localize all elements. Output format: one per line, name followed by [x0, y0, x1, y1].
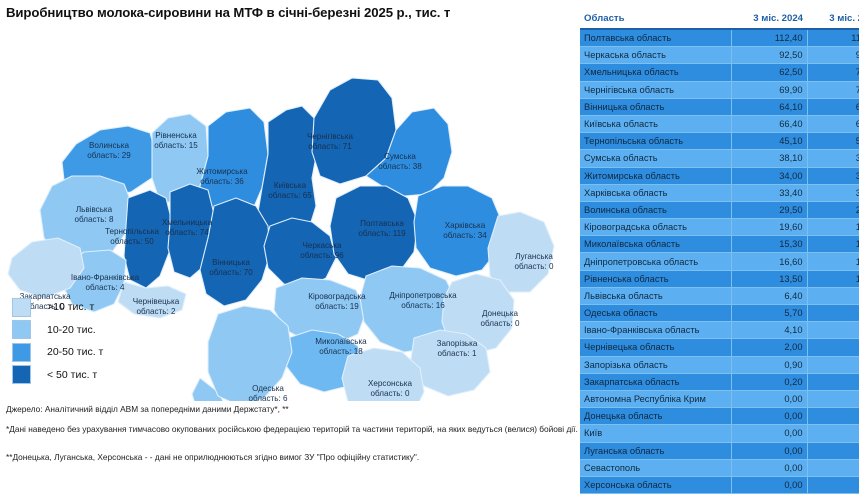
map-region-label: Львівськаобласть: 8	[75, 205, 114, 224]
cell-value-2025: 14,50	[807, 270, 859, 287]
cell-region: Хмельницька область	[580, 64, 731, 81]
cell-region: Київська область	[580, 115, 731, 132]
cell-value-2025: 119,00	[807, 29, 859, 47]
cell-value-2025: 18,10	[807, 236, 859, 253]
cell-region: Одеська область	[580, 305, 731, 322]
cell-region: Волинська область	[580, 201, 731, 218]
cell-value-2024: 0,20	[731, 373, 807, 390]
cell-region: Кіровоградська область	[580, 219, 731, 236]
table-row: Донецька область0,000,00	[580, 408, 859, 425]
map-region-label: Тернопільськаобласть: 50	[105, 227, 160, 246]
cell-value-2025: 69,50	[807, 98, 859, 115]
cell-value-2025: 0,00	[807, 476, 859, 493]
cell-value-2025: 37,50	[807, 150, 859, 167]
cell-value-2024: 16,60	[731, 253, 807, 270]
map-region-label: Чернігівськаобласть: 71	[307, 132, 354, 151]
map-region-label: Вінницькаобласть: 70	[209, 258, 253, 277]
cell-value-2025: 4,10	[807, 322, 859, 339]
cell-value-2024: 0,00	[731, 408, 807, 425]
cell-region: Полтавська область	[580, 29, 731, 47]
map-region-label: Херсонськаобласть: 0	[368, 379, 412, 398]
table-body: Полтавська область112,40119,00Черкаська …	[580, 29, 859, 494]
cell-region: Донецька область	[580, 408, 731, 425]
table-row: Херсонська область0,000,00	[580, 476, 859, 493]
cell-value-2024: 64,10	[731, 98, 807, 115]
cell-region: Вінницька область	[580, 98, 731, 115]
cell-value-2025: 0,00	[807, 459, 859, 476]
cell-region: Закарпатська область	[580, 373, 731, 390]
table-row: Одеська область5,705,60	[580, 305, 859, 322]
table-row: Чернівецька область2,002,30	[580, 339, 859, 356]
map-region-label: Донецькаобласть: 0	[481, 309, 520, 328]
footnote-undisclosed-regions: **Донецька, Луганська, Херсонська - - да…	[6, 452, 578, 462]
table-row: Івано-Франківська область4,104,10	[580, 322, 859, 339]
table-row: Хмельницька область62,5074,40	[580, 64, 859, 81]
table-row: Київська область66,4065,40	[580, 115, 859, 132]
cell-value-2024: 0,00	[731, 425, 807, 442]
map-region-label: Хмельницькаобласть: 74	[162, 218, 213, 237]
cell-value-2025: 5,60	[807, 305, 859, 322]
map-region-label: Рівненськаобласть: 15	[154, 131, 198, 150]
cell-value-2024: 45,10	[731, 133, 807, 150]
cell-region: Херсонська область	[580, 476, 731, 493]
table-row: Харківська область33,4034,00	[580, 184, 859, 201]
table-row: Київ0,000,00	[580, 425, 859, 442]
map-region-label: Миколаївськаобласть: 18	[315, 337, 367, 356]
cell-value-2025: 7,90	[807, 287, 859, 304]
cell-value-2024: 33,40	[731, 184, 807, 201]
map-region-label: Черкаськаобласть: 96	[300, 241, 344, 260]
cell-value-2024: 0,00	[731, 476, 807, 493]
table-row: Кіровоградська область19,6019,20	[580, 219, 859, 236]
cell-region: Харківська область	[580, 184, 731, 201]
table-row: Дніпропетровська область16,6015,80	[580, 253, 859, 270]
legend-item: < 50 тис. т	[12, 364, 192, 387]
legend-item: >10 тис. т	[12, 296, 192, 319]
map-region-label: Сумськаобласть: 38	[378, 152, 422, 171]
table-row: Чернігівська область69,9070,70	[580, 81, 859, 98]
table-row: Миколаївська область15,3018,10	[580, 236, 859, 253]
cell-region: Запорізька область	[580, 356, 731, 373]
map-panel: Виробництво молока-сировини на МТФ в січ…	[0, 0, 580, 473]
cell-value-2024: 15,30	[731, 236, 807, 253]
cell-value-2025: 0,90	[807, 356, 859, 373]
cell-region: Черкаська область	[580, 47, 731, 64]
map-legend: >10 тис. т 10-20 тис. 20-50 тис. т < 50 …	[12, 296, 192, 386]
cell-value-2025: 0,00	[807, 390, 859, 407]
cell-value-2024: 4,10	[731, 322, 807, 339]
cell-region: Сумська область	[580, 150, 731, 167]
table-row: Львівська область6,407,90	[580, 287, 859, 304]
cell-value-2025: 36,00	[807, 167, 859, 184]
table-row: Тернопільська область45,1050,40	[580, 133, 859, 150]
table-row: Закарпатська область0,200,30	[580, 373, 859, 390]
cell-value-2024: 29,50	[731, 201, 807, 218]
table-row: Луганська область0,000,00	[580, 442, 859, 459]
cell-value-2025: 0,00	[807, 408, 859, 425]
cell-value-2025: 2,30	[807, 339, 859, 356]
table-row: Черкаська область92,5095,80	[580, 47, 859, 64]
column-header-region: Область	[580, 0, 731, 29]
cell-region: Дніпропетровська область	[580, 253, 731, 270]
map-region-label: Київськаобласть: 65	[268, 181, 312, 200]
cell-value-2024: 5,70	[731, 305, 807, 322]
column-header-2024: 3 міс. 2024	[731, 0, 807, 29]
cell-value-2025: 28,90	[807, 201, 859, 218]
footnote-occupied-territories: *Дані наведено без урахування тимчасово …	[6, 424, 578, 436]
legend-label: 10-20 тис.	[47, 324, 96, 336]
map-region-label: Житомирськаобласть: 36	[196, 167, 248, 186]
table-row: Автономна Республіка Крим0,000,00	[580, 390, 859, 407]
column-header-2025: 3 міс. 2025	[807, 0, 859, 29]
cell-value-2024: 0,90	[731, 356, 807, 373]
cell-region: Чернівецька область	[580, 339, 731, 356]
table-row: Полтавська область112,40119,00	[580, 29, 859, 47]
cell-value-2024: 38,10	[731, 150, 807, 167]
cell-region: Чернігівська область	[580, 81, 731, 98]
cell-value-2024: 19,60	[731, 219, 807, 236]
map-region-label: Луганськаобласть: 0	[515, 252, 554, 271]
cell-value-2024: 0,00	[731, 390, 807, 407]
table-row: Запорізька область0,900,90	[580, 356, 859, 373]
map-region-label: Запорізькаобласть: 1	[437, 339, 478, 358]
cell-value-2024: 2,00	[731, 339, 807, 356]
map-region-label: Харківськаобласть: 34	[443, 221, 487, 240]
cell-value-2024: 92,50	[731, 47, 807, 64]
cell-region: Миколаївська область	[580, 236, 731, 253]
cell-value-2025: 0,00	[807, 442, 859, 459]
table-row: Житомирська область34,0036,00	[580, 167, 859, 184]
legend-swatch-tier3	[12, 343, 31, 362]
cell-value-2024: 34,00	[731, 167, 807, 184]
cell-value-2025: 19,20	[807, 219, 859, 236]
cell-value-2025: 15,80	[807, 253, 859, 270]
map-region-label: Волинськаобласть: 29	[87, 141, 131, 160]
table-header-row: Область 3 міс. 2024 3 міс. 2025	[580, 0, 859, 29]
legend-label: 20-50 тис. т	[47, 346, 103, 358]
table-row: Вінницька область64,1069,50	[580, 98, 859, 115]
cell-value-2024: 112,40	[731, 29, 807, 47]
legend-item: 20-50 тис. т	[12, 341, 192, 364]
legend-swatch-tier1	[12, 298, 31, 317]
source-note: Джерело: Аналітичний відділ АВМ за попер…	[6, 404, 289, 414]
milk-production-infographic: Виробництво молока-сировини на МТФ в січ…	[0, 0, 859, 473]
cell-region: Луганська область	[580, 442, 731, 459]
table-row: Волинська область29,5028,90	[580, 201, 859, 218]
table-row: Рівненська область13,5014,50	[580, 270, 859, 287]
cell-value-2025: 95,80	[807, 47, 859, 64]
cell-region: Севастополь	[580, 459, 731, 476]
cell-value-2025: 70,70	[807, 81, 859, 98]
cell-value-2024: 13,50	[731, 270, 807, 287]
cell-region: Житомирська область	[580, 167, 731, 184]
map-region-label: Одеськаобласть: 6	[249, 384, 288, 401]
cell-region: Львівська область	[580, 287, 731, 304]
cell-value-2025: 34,00	[807, 184, 859, 201]
legend-item: 10-20 тис.	[12, 319, 192, 342]
legend-swatch-tier4	[12, 365, 31, 384]
legend-label: >10 тис. т	[47, 301, 94, 313]
cell-value-2024: 66,40	[731, 115, 807, 132]
cell-value-2024: 6,40	[731, 287, 807, 304]
cell-value-2025: 50,40	[807, 133, 859, 150]
data-table-panel: Область 3 міс. 2024 3 міс. 2025 Полтавсь…	[580, 0, 859, 473]
legend-swatch-tier2	[12, 320, 31, 339]
cell-region: Київ	[580, 425, 731, 442]
table-row: Сумська область38,1037,50	[580, 150, 859, 167]
cell-value-2024: 62,50	[731, 64, 807, 81]
cell-value-2025: 0,30	[807, 373, 859, 390]
cell-value-2024: 0,00	[731, 459, 807, 476]
legend-label: < 50 тис. т	[47, 369, 97, 381]
cell-region: Івано-Франківська область	[580, 322, 731, 339]
cell-value-2025: 0,00	[807, 425, 859, 442]
cell-region: Автономна Республіка Крим	[580, 390, 731, 407]
region-values-table: Область 3 міс. 2024 3 міс. 2025 Полтавсь…	[580, 0, 859, 494]
table-row: Севастополь0,000,00	[580, 459, 859, 476]
cell-value-2025: 65,40	[807, 115, 859, 132]
cell-value-2024: 0,00	[731, 442, 807, 459]
page-title: Виробництво молока-сировини на МТФ в січ…	[6, 5, 576, 20]
map-region-label: Кіровоградськаобласть: 19	[308, 292, 366, 311]
cell-value-2024: 69,90	[731, 81, 807, 98]
cell-region: Тернопільська область	[580, 133, 731, 150]
cell-region: Рівненська область	[580, 270, 731, 287]
map-region-label: Полтавськаобласть: 119	[358, 219, 406, 238]
cell-value-2025: 74,40	[807, 64, 859, 81]
